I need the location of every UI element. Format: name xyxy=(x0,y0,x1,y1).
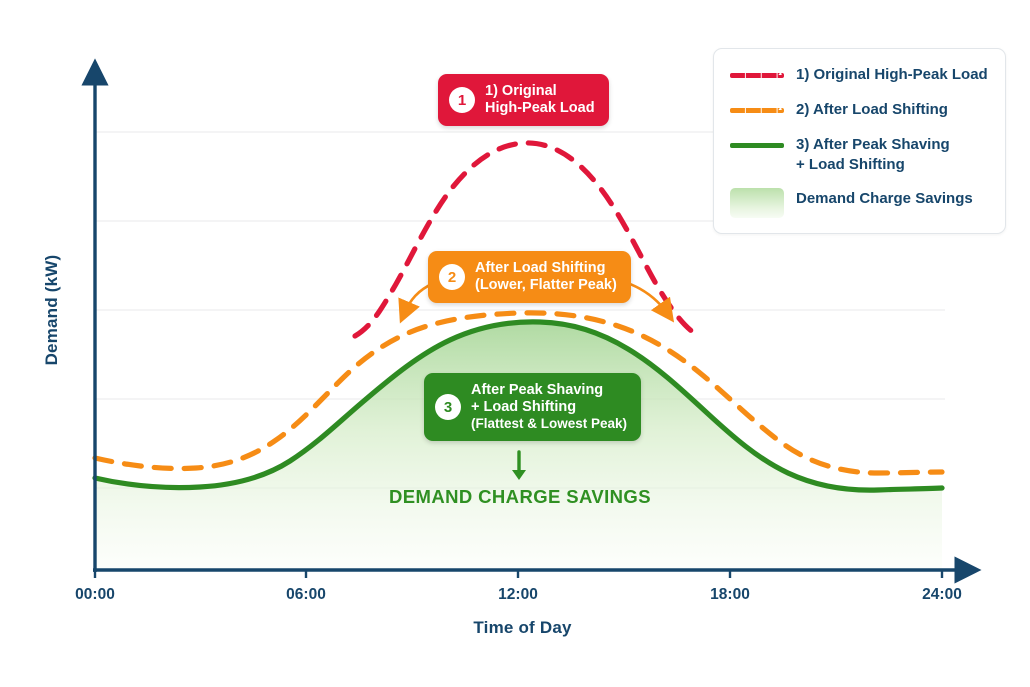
legend-label-1: 2) After Load Shifting xyxy=(796,99,948,120)
demand-charge-savings-area xyxy=(95,322,942,569)
chart-page: Demand (kW) Time of Day 00:00 06:00 12:0… xyxy=(0,0,1030,687)
legend-item-demand-charge-savings[interactable]: Demand Charge Savings xyxy=(730,188,991,218)
legend-swatch-area-green xyxy=(730,188,784,218)
callout-original-high-peak[interactable]: 1 1) Original High-Peak Load xyxy=(438,74,609,126)
callout-2-number-badge: 2 xyxy=(439,264,465,290)
x-tick-label-6: 06:00 xyxy=(261,586,351,604)
chart-legend: 1) Original High-Peak Load 2) After Load… xyxy=(713,48,1006,234)
x-axis-title: Time of Day xyxy=(90,618,955,638)
legend-swatch-solid-green xyxy=(730,134,784,156)
callout-1-number-badge: 1 xyxy=(449,87,475,113)
x-tick-label-0: 00:00 xyxy=(50,586,140,604)
legend-swatch-dashed-red xyxy=(730,64,784,86)
callout-2-text: After Load Shifting (Lower, Flatter Peak… xyxy=(475,260,617,294)
callout-3-title: After Peak Shaving + Load Shifting xyxy=(471,382,627,416)
callout-after-peak-shaving[interactable]: 3 After Peak Shaving + Load Shifting (Fl… xyxy=(424,373,641,441)
x-tick-label-12: 12:00 xyxy=(473,586,563,604)
y-axis-title: Demand (kW) xyxy=(42,230,62,390)
callout-1-text: 1) Original High-Peak Load xyxy=(485,83,595,117)
demand-charge-savings-label: DEMAND CHARGE SAVINGS xyxy=(300,486,740,508)
legend-item-after-peak-shaving[interactable]: 3) After Peak Shaving + Load Shifting xyxy=(730,134,991,175)
callout-3-text-group: After Peak Shaving + Load Shifting (Flat… xyxy=(471,382,627,432)
legend-label-3: Demand Charge Savings xyxy=(796,188,973,209)
legend-swatch-dashed-orange xyxy=(730,99,784,121)
legend-item-original-high-peak[interactable]: 1) Original High-Peak Load xyxy=(730,64,991,86)
legend-label-2: 3) After Peak Shaving + Load Shifting xyxy=(796,134,950,175)
legend-label-0: 1) Original High-Peak Load xyxy=(796,64,988,85)
legend-item-after-load-shifting[interactable]: 2) After Load Shifting xyxy=(730,99,991,121)
callout-after-load-shifting[interactable]: 2 After Load Shifting (Lower, Flatter Pe… xyxy=(428,251,631,303)
x-tick-label-18: 18:00 xyxy=(685,586,775,604)
callout-3-number-badge: 3 xyxy=(435,394,461,420)
x-tick-label-24: 24:00 xyxy=(897,586,987,604)
callout-3-subtitle: (Flattest & Lowest Peak) xyxy=(471,416,627,432)
